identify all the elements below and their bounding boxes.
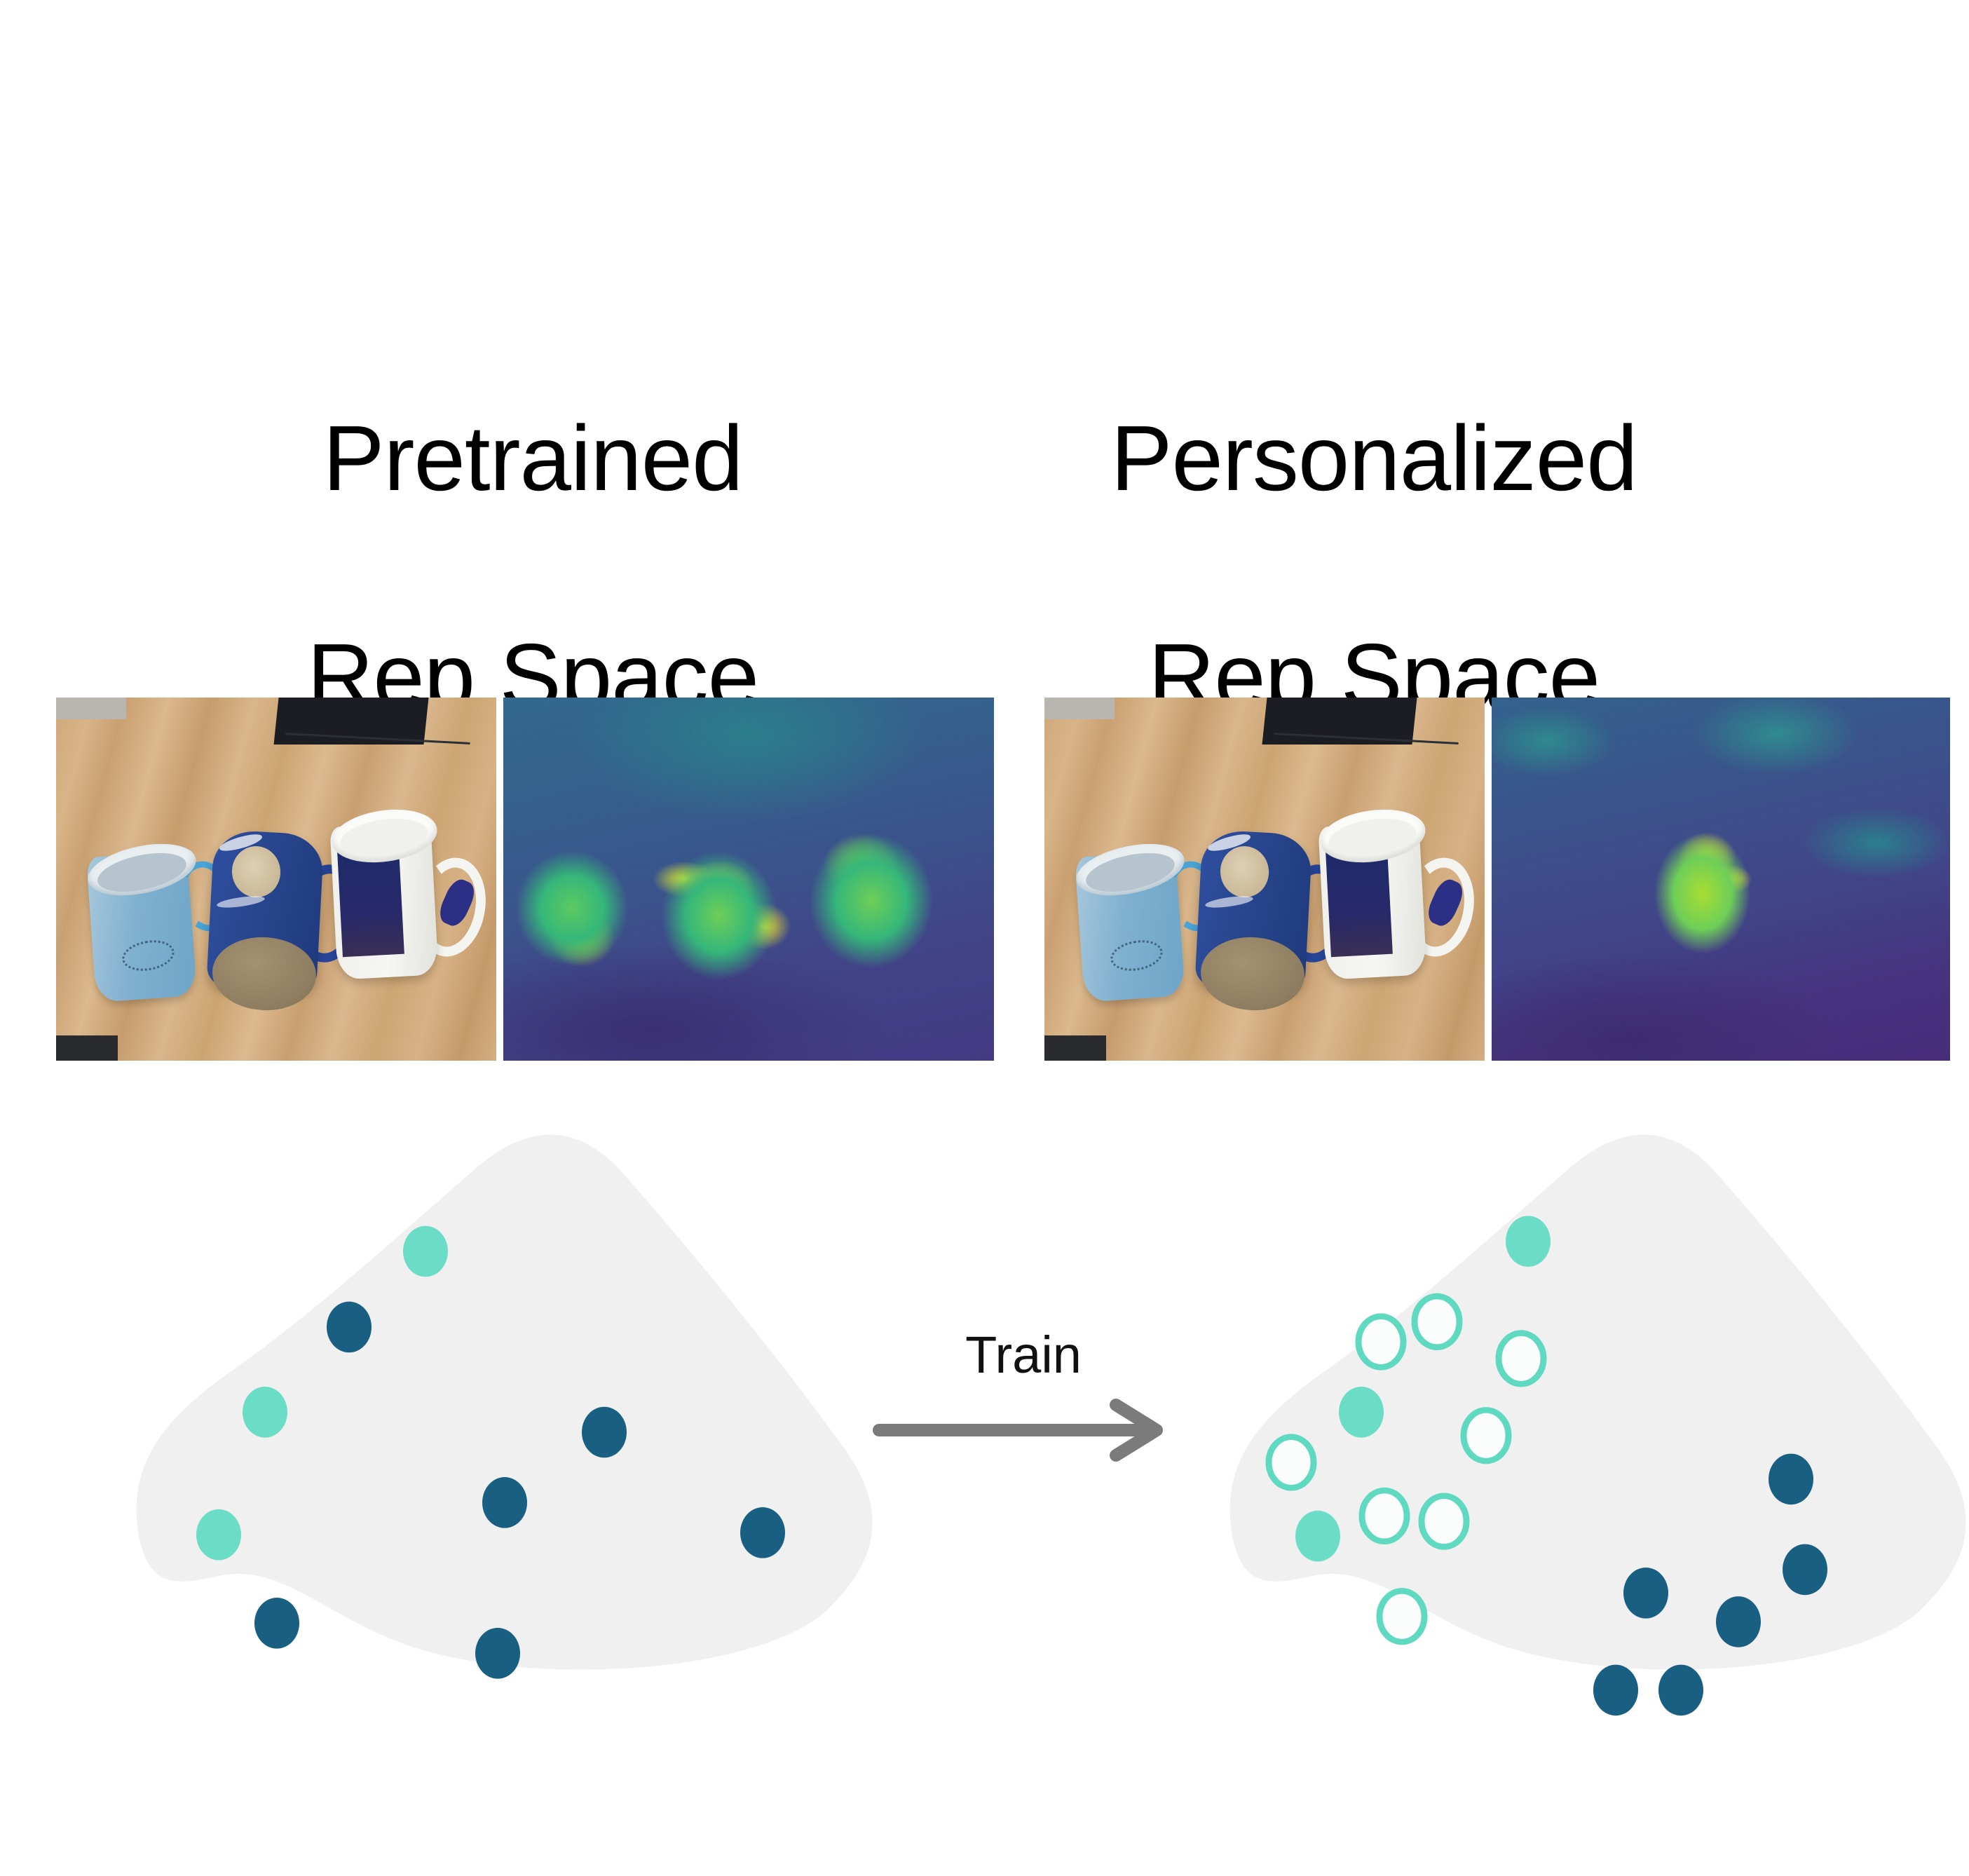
scatter-point-filled [196, 1509, 241, 1561]
personalized-image-pair [1044, 698, 1950, 1061]
attention-heatmap-all-mugs [503, 698, 994, 1061]
scatter-point-filled [582, 1407, 627, 1458]
pretrained-scatter-svg [84, 1101, 911, 1704]
scatter-point-filled [740, 1507, 785, 1558]
three-mugs-photo-right [1044, 698, 1485, 1061]
pretrained-rep-space-blob [84, 1101, 911, 1704]
scatter-point-hollow [1464, 1410, 1508, 1461]
scatter-point-filled [327, 1302, 372, 1353]
scatter-point-hollow [1499, 1333, 1544, 1385]
title-line-personalized-1: Personalized [995, 404, 1752, 513]
scatter-point-filled [475, 1628, 520, 1679]
background-object-bottom [1044, 1035, 1106, 1061]
heatmap-texture-left [503, 698, 994, 1061]
background-object-bottom [56, 1035, 118, 1061]
attention-heatmap-single-mug [1492, 698, 1950, 1061]
scatter-point-hollow [1379, 1591, 1424, 1642]
scatter-point-filled [403, 1226, 448, 1277]
scatter-point-filled [1339, 1387, 1384, 1438]
scatter-point-hollow [1269, 1437, 1314, 1488]
scatter-point-filled [1593, 1665, 1638, 1716]
scatter-point-filled [482, 1477, 527, 1528]
scatter-point-filled [254, 1598, 299, 1649]
white-mug-starry-print [1326, 848, 1393, 957]
scatter-point-hollow [1362, 1490, 1407, 1542]
scatter-point-filled [1506, 1216, 1551, 1267]
train-label: Train [869, 1325, 1178, 1385]
white-mug-starry-print [337, 848, 404, 957]
three-mugs-photo-left [56, 698, 496, 1061]
scatter-point-filled [1295, 1511, 1340, 1562]
scatter-point-filled [1658, 1665, 1703, 1716]
train-arrow-icon [869, 1396, 1178, 1464]
personalized-scatter-svg [1178, 1101, 1969, 1704]
scatter-point-filled [243, 1387, 287, 1438]
heatmap-texture-right [1492, 698, 1950, 1061]
scatter-point-filled [1783, 1544, 1827, 1596]
title-line-pretrained-1: Pretrained [154, 404, 911, 513]
background-object-left [56, 698, 126, 719]
background-object-left [1044, 698, 1115, 719]
pretrained-image-pair [56, 698, 994, 1061]
train-transition: Train [869, 1325, 1178, 1465]
scatter-point-filled [1623, 1568, 1668, 1619]
scatter-point-filled [1716, 1596, 1761, 1647]
scatter-point-hollow [1358, 1317, 1403, 1368]
personalized-rep-space-blob [1178, 1101, 1969, 1704]
blob-region-personalized [1230, 1134, 1966, 1669]
scatter-point-hollow [1415, 1296, 1459, 1347]
scatter-point-filled [1769, 1454, 1813, 1505]
scatter-point-hollow [1422, 1496, 1466, 1547]
